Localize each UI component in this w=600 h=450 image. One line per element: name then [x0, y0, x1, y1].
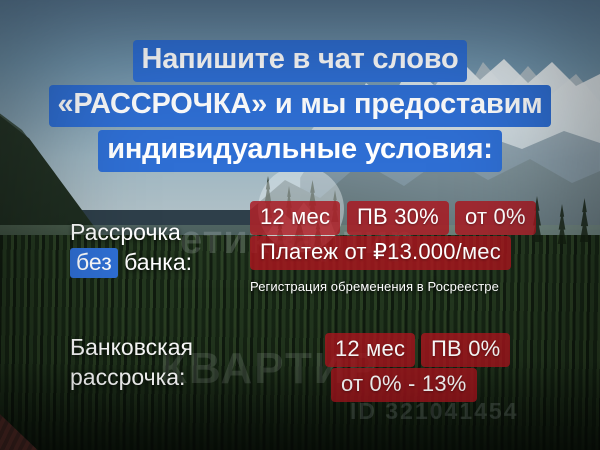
headline-line-1: Напишите в чат слово [0, 40, 600, 82]
offer-1-label-suffix: банка: [124, 249, 192, 275]
headline-block: Напишите в чат слово «РАССРОЧКА» и мы пр… [0, 40, 600, 172]
offer-1-badge-payment: Платеж от ₽13.000/мес [250, 236, 511, 270]
offer-2-label-line1: Банковская [70, 334, 193, 360]
offer-1-badge-rate: от 0% [455, 201, 536, 235]
offer-1-label-highlight: без [70, 248, 118, 278]
headline-line-3: индивидуальные условия: [0, 130, 600, 172]
offer-2-label: Банковская рассрочка: [70, 333, 193, 393]
offer-2-badge-downpayment: ПВ 0% [421, 333, 510, 367]
offer-1-fineprint: Регистрация обременения в Росреестре [250, 279, 499, 294]
offer-2-label-line2: рассрочка: [70, 364, 185, 390]
offer-1-label-prefix: Рассрочка [70, 219, 181, 245]
headline-line-2: «РАССРОЧКА» и мы предоставим [0, 85, 600, 127]
headline-text-2: «РАССРОЧКА» и мы предоставим [49, 85, 552, 127]
headline-text-1: Напишите в чат слово [133, 40, 468, 82]
offer-1-badge-term: 12 мес [250, 201, 340, 235]
offer-2-badge-rate: от 0% - 13% [331, 368, 477, 402]
offer-2-badge-term: 12 мес [325, 333, 415, 367]
watermark-listing-id: ID 321041454 [350, 398, 519, 425]
promo-image: етиквартир КВАРТИР ID 321041454 Напишите… [0, 0, 600, 450]
offer-1-label: Рассрочка без банка: [70, 218, 192, 278]
headline-text-3: индивидуальные условия: [98, 130, 502, 172]
offer-1-badge-downpayment: ПВ 30% [347, 201, 449, 235]
